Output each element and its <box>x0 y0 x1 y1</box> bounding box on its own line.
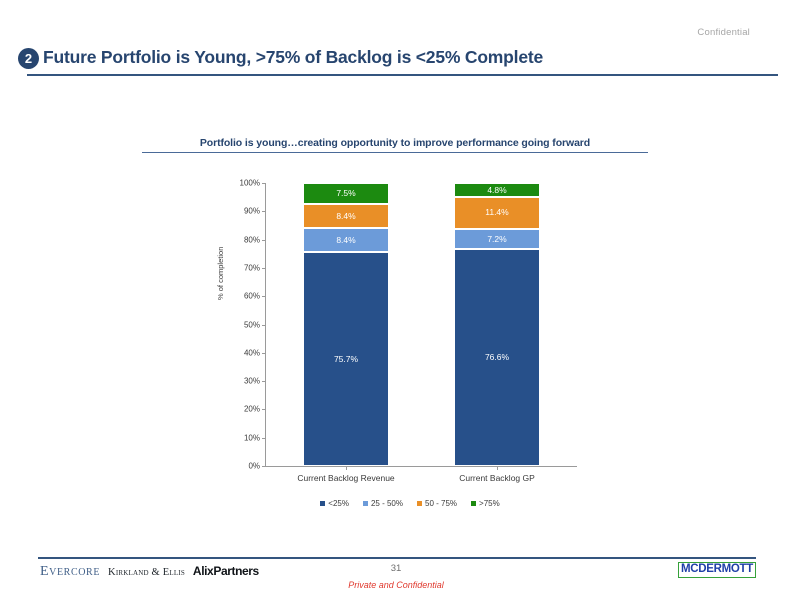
y-axis-tick-label: 100% <box>240 179 260 188</box>
y-axis-tick-mark <box>262 409 265 410</box>
bar-segment-label: 11.4% <box>485 208 508 217</box>
y-axis-tick-mark <box>262 183 265 184</box>
legend-label: 25 - 50% <box>371 499 403 508</box>
legend-item[interactable]: 50 - 75% <box>417 499 457 508</box>
private-confidential-notice: Private and Confidential <box>0 580 792 590</box>
chart-plot-area: 0%10%20%30%40%50%60%70%80%90%100%75.7%8.… <box>265 183 555 466</box>
y-axis-tick-label: 60% <box>244 292 260 301</box>
x-axis-tick-label: Current Backlog GP <box>459 473 535 483</box>
y-axis-tick-mark <box>262 353 265 354</box>
bar-segment[interactable]: 7.5% <box>303 183 389 204</box>
bar-segment[interactable]: 8.4% <box>303 228 389 252</box>
bar-segment-label: 76.6% <box>485 353 509 362</box>
bar-segment[interactable]: 7.2% <box>454 229 540 249</box>
y-axis-tick-label: 90% <box>244 207 260 216</box>
y-axis-tick-label: 20% <box>244 405 260 414</box>
y-axis-tick-label: 50% <box>244 320 260 329</box>
legend-swatch-icon <box>471 501 476 506</box>
stacked-bar-chart: % of completion 0%10%20%30%40%50%60%70%8… <box>0 0 792 612</box>
x-axis-tick-mark <box>346 466 347 470</box>
y-axis-tick-mark <box>262 438 265 439</box>
y-axis-tick-mark <box>262 381 265 382</box>
footer-divider <box>38 557 756 559</box>
y-axis-tick-mark <box>262 211 265 212</box>
y-axis-tick-label: 30% <box>244 377 260 386</box>
y-axis-tick-label: 10% <box>244 433 260 442</box>
bar-segment-label: 7.2% <box>487 235 506 244</box>
bar-segment[interactable]: 76.6% <box>454 249 540 466</box>
bar-column[interactable]: 75.7%8.4%8.4%7.5% <box>303 183 389 466</box>
bar-segment-label: 7.5% <box>336 189 355 198</box>
page-number: 31 <box>0 563 792 574</box>
y-axis-tick-mark <box>262 268 265 269</box>
y-axis-line <box>265 183 266 466</box>
bar-column[interactable]: 76.6%7.2%11.4%4.8% <box>454 183 540 466</box>
legend-item[interactable]: >75% <box>471 499 500 508</box>
legend-label: >75% <box>479 499 500 508</box>
bar-segment-label: 8.4% <box>336 236 355 245</box>
legend-label: <25% <box>328 499 349 508</box>
legend-swatch-icon <box>363 501 368 506</box>
x-axis-tick-mark <box>497 466 498 470</box>
legend-swatch-icon <box>417 501 422 506</box>
y-axis-tick-label: 70% <box>244 263 260 272</box>
bar-segment[interactable]: 8.4% <box>303 204 389 228</box>
bar-segment-label: 4.8% <box>487 186 506 195</box>
y-axis-tick-mark <box>262 296 265 297</box>
y-axis-tick-label: 40% <box>244 348 260 357</box>
y-axis-tick-label: 80% <box>244 235 260 244</box>
bar-segment-label: 8.4% <box>336 212 355 221</box>
bar-segment[interactable]: 11.4% <box>454 197 540 229</box>
y-axis-tick-mark <box>262 240 265 241</box>
y-axis-tick-mark <box>262 325 265 326</box>
y-axis-tick-mark <box>262 466 265 467</box>
bar-segment[interactable]: 4.8% <box>454 183 540 197</box>
legend-item[interactable]: <25% <box>320 499 349 508</box>
legend-swatch-icon <box>320 501 325 506</box>
bar-segment[interactable]: 75.7% <box>303 252 389 466</box>
bar-segment-label: 75.7% <box>334 355 358 364</box>
x-axis-line <box>265 466 577 467</box>
x-axis-tick-label: Current Backlog Revenue <box>297 473 394 483</box>
y-axis-tick-label: 0% <box>248 462 260 471</box>
mcdermott-logo: MCDERMOTT <box>678 562 756 578</box>
chart-legend: <25%25 - 50%50 - 75%>75% <box>265 499 555 508</box>
legend-item[interactable]: 25 - 50% <box>363 499 403 508</box>
legend-label: 50 - 75% <box>425 499 457 508</box>
y-axis-title: % of completion <box>216 247 225 300</box>
